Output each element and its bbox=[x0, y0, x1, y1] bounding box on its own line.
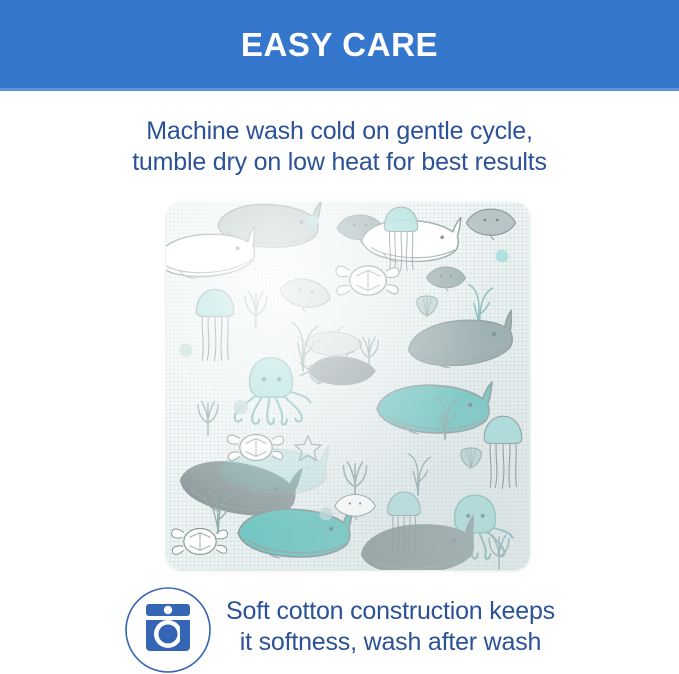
softness-feature-line-2: it softness, wash after wash bbox=[226, 627, 555, 658]
care-instructions-line-2: tumble dry on low heat for best results bbox=[0, 147, 679, 178]
softness-feature-line-1: Soft cotton construction keeps bbox=[226, 596, 555, 627]
fabric-swatch-surface bbox=[166, 202, 530, 570]
ocean-print-motifs bbox=[166, 202, 530, 570]
header-underline-divider bbox=[0, 88, 679, 91]
page-title: EASY CARE bbox=[241, 28, 438, 61]
header-banner: EASY CARE bbox=[0, 0, 679, 88]
softness-feature-text: Soft cotton construction keeps it softne… bbox=[226, 596, 555, 658]
fabric-swatch-image bbox=[166, 202, 530, 570]
washing-machine-icon bbox=[124, 586, 212, 674]
footer-feature-row: Soft cotton construction keeps it softne… bbox=[0, 582, 679, 665]
care-instructions-line-1: Machine wash cold on gentle cycle, bbox=[0, 116, 679, 147]
care-instructions-text: Machine wash cold on gentle cycle, tumbl… bbox=[0, 116, 679, 178]
